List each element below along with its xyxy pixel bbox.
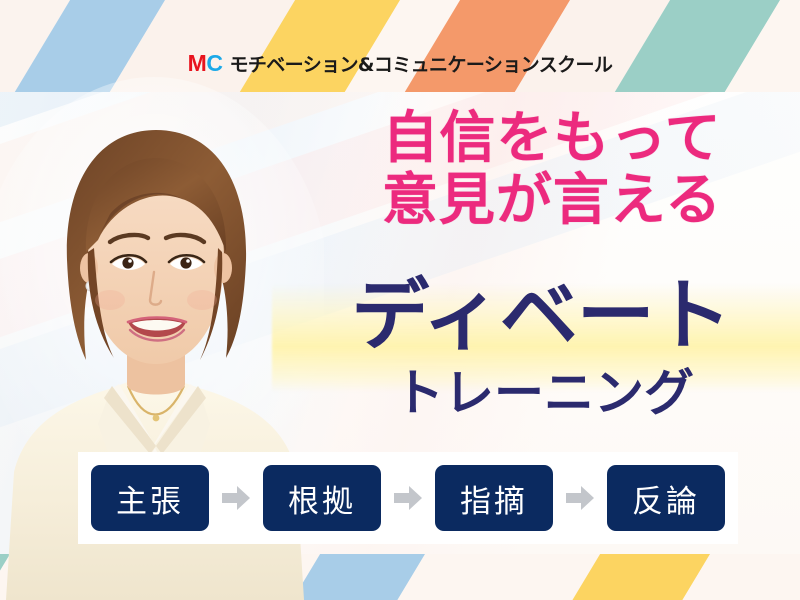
flow-step-2: 根拠 — [263, 465, 381, 531]
flow-step-1: 主張 — [91, 465, 209, 531]
flow-arrow-right-icon — [553, 465, 607, 531]
headline-line-2: 意見が言える — [342, 170, 762, 232]
school-name: モチベーション&コミュニケーションスクール — [229, 50, 612, 77]
logo-letter-m: M — [188, 50, 207, 76]
flow-step-label: 根拠 — [288, 476, 356, 521]
course-title-sub: トレーニング — [344, 368, 744, 418]
bottom-decorative-stripes — [0, 554, 800, 600]
flow-step-4: 反論 — [607, 465, 725, 531]
flow-step-label: 主張 — [116, 476, 184, 521]
flow-step-label: 指摘 — [460, 476, 528, 521]
debate-training-banner: MC モチベーション&コミュニケーションスクール — [0, 0, 800, 600]
flow-step-label: 反論 — [632, 476, 700, 521]
headline-line-1: 自信をもって — [342, 108, 762, 170]
page-title: 自信をもって 意見が言える — [342, 108, 762, 232]
flow-arrow-right-icon — [209, 465, 263, 531]
logo-mark: MC — [188, 50, 223, 77]
flow-arrow-right-icon — [381, 465, 435, 531]
top-decorative-stripes — [0, 0, 800, 92]
debate-flow-panel: 主張根拠指摘反論 — [78, 452, 738, 544]
logo-letter-c: C — [206, 50, 222, 76]
course-title-main: ディベート — [306, 277, 776, 355]
brand-logo: MC モチベーション&コミュニケーションスクール — [0, 50, 800, 77]
flow-step-3: 指摘 — [435, 465, 553, 531]
